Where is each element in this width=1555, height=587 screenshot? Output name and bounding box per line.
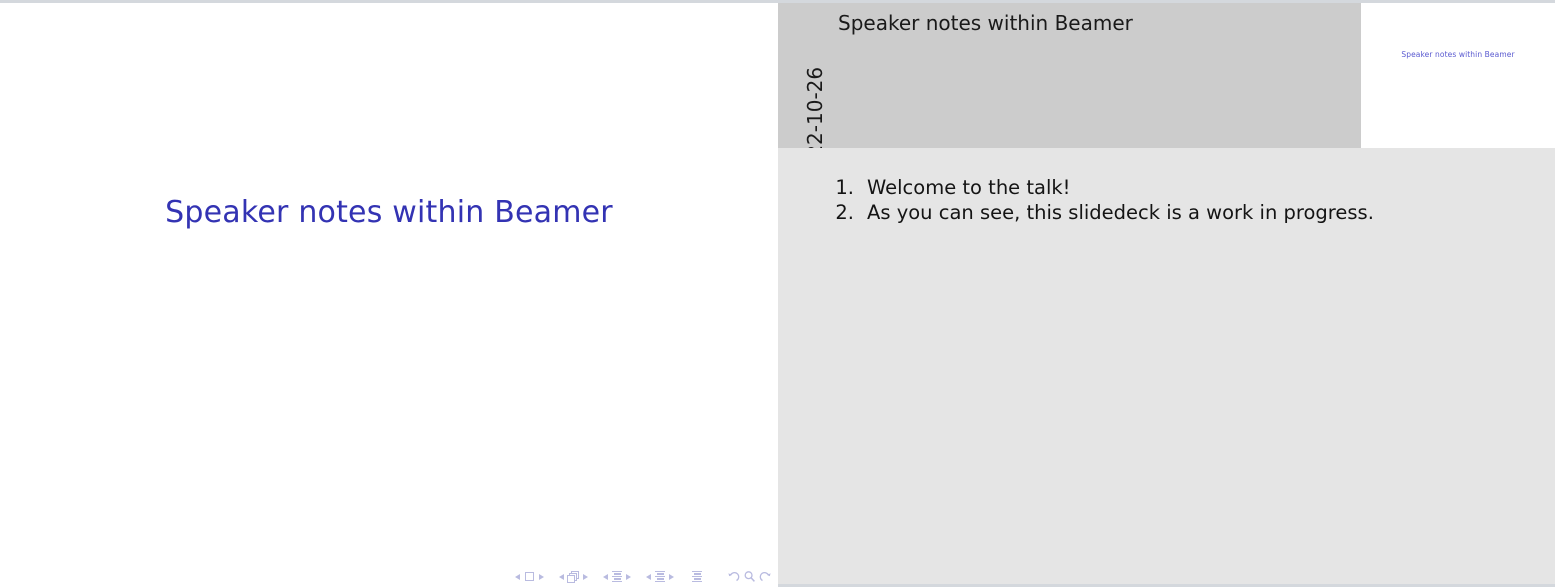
previous-subsection-icon[interactable] [603,574,608,580]
utility-navigation-group[interactable] [727,570,772,583]
note-text: Welcome to the talk! [867,175,1071,200]
slide-thumbnail-canvas: Speaker notes within Beamer [1361,3,1555,148]
notes-header-title: Speaker notes within Beamer [838,11,1133,35]
notes-body: 1. Welcome to the talk! 2. As you can se… [778,148,1555,584]
next-section-icon[interactable] [669,574,674,580]
section-navigation-group[interactable] [643,571,677,583]
slide-title: Speaker notes within Beamer [0,195,778,230]
frame-icon[interactable] [567,571,580,583]
next-slide-icon[interactable] [539,574,544,580]
slide-thumbnail[interactable]: Speaker notes within Beamer [1361,3,1555,148]
previous-section-icon[interactable] [646,574,651,580]
section-icon[interactable] [654,571,666,583]
slide-navigation-group[interactable] [512,571,547,582]
search-icon[interactable] [743,570,756,583]
previous-frame-icon[interactable] [559,574,564,580]
list-item: 2. As you can see, this slidedeck is a w… [778,200,1555,225]
frame-navigation-group[interactable] [556,571,591,583]
forward-icon[interactable] [759,570,772,583]
note-number: 1. [806,175,854,200]
current-slide-pane: Speaker notes within Beamer [0,0,778,587]
notes-header: 2022-10-26 Speaker notes within Beamer [778,3,1361,148]
subsection-navigation-group[interactable] [600,571,634,583]
subsection-icon[interactable] [611,571,623,583]
next-frame-icon[interactable] [583,574,588,580]
next-subsection-icon[interactable] [626,574,631,580]
previous-slide-icon[interactable] [515,574,520,580]
beamer-navigation-symbols[interactable] [512,570,772,583]
notes-date: 2022-10-26 [802,17,828,137]
slide-thumbnail-title: Speaker notes within Beamer [1361,50,1555,59]
back-icon[interactable] [727,570,740,583]
speaker-notes-pane: 2022-10-26 Speaker notes within Beamer S… [778,0,1555,587]
note-text: As you can see, this slidedeck is a work… [867,200,1374,225]
slide-canvas: Speaker notes within Beamer [0,3,778,587]
presenter-window: Speaker notes within Beamer [0,0,1555,587]
presentation-navigation-group[interactable] [691,571,703,583]
list-item: 1. Welcome to the talk! [778,175,1555,200]
notes-list: 1. Welcome to the talk! 2. As you can se… [778,148,1555,225]
slide-icon[interactable] [525,572,534,581]
note-number: 2. [806,200,854,225]
presentation-icon[interactable] [691,571,703,583]
